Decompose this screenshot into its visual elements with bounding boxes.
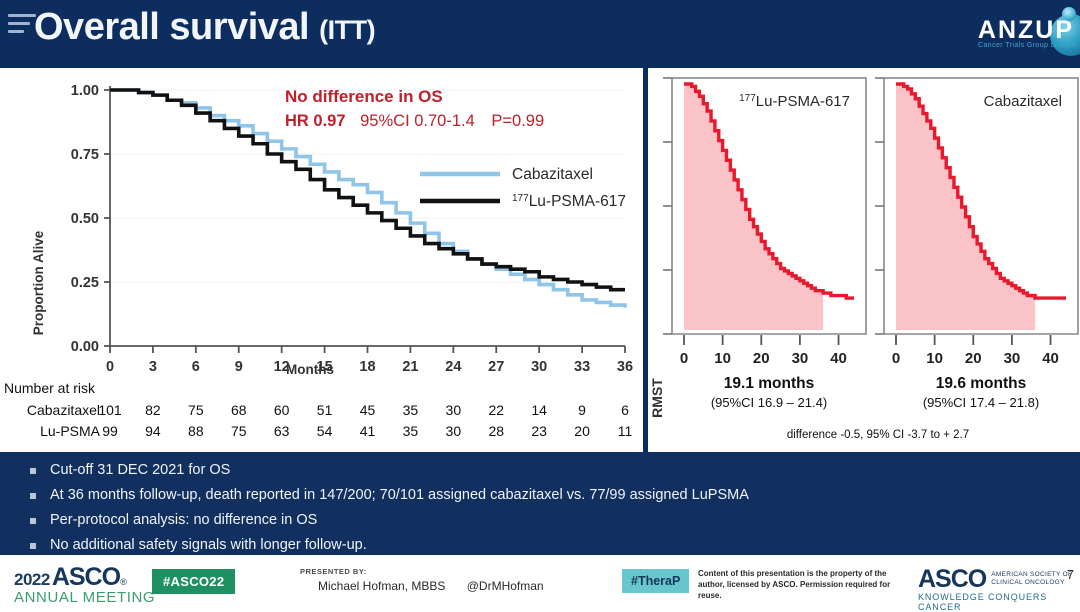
copyright-line-1: Content of this presentation is the prop… — [698, 568, 908, 579]
rmst-confidence-interval: (95%CI 16.9 – 21.4) — [711, 395, 827, 410]
hamburger-icon — [8, 14, 36, 40]
risk-cell: 22 — [488, 402, 504, 418]
rmst-value: 19.6 months — [936, 375, 1026, 392]
rmst-panels: 010203040177Lu-PSMA-61719.1 months(95%CI… — [648, 68, 1080, 452]
risk-cell: 30 — [446, 423, 462, 439]
risk-table-rows: Cabazitaxel1018275686051453530221496Lu-P… — [27, 402, 633, 439]
risk-cell: 6 — [621, 402, 629, 418]
risk-cell: 51 — [317, 402, 333, 418]
asco-annual-meeting-text: ANNUAL MEETING — [14, 589, 174, 606]
risk-cell: 101 — [98, 402, 122, 418]
km-x-tick: 24 — [445, 359, 461, 375]
km-y-axis-label: Proportion Alive — [31, 230, 46, 335]
km-y-tick: 1.00 — [71, 83, 99, 99]
risk-cell: 75 — [231, 423, 247, 439]
overall-survival-chart: 0.000.250.500.751.00 0369121518212427303… — [0, 68, 643, 452]
bullet-item: Cut-off 31 DEC 2021 for OS — [30, 460, 1070, 480]
risk-row-label: Cabazitaxel — [27, 402, 100, 418]
presented-by-label: PRESENTED BY: — [300, 567, 544, 576]
hashtag-asco22-badge[interactable]: #ASCO22 — [152, 569, 235, 594]
bullet-text: No additional safety signals with longer… — [50, 535, 367, 555]
risk-cell: 45 — [360, 402, 376, 418]
asco-society-line-1: AMERICAN SOCIETY OF — [991, 571, 1072, 578]
registered-mark-icon: ® — [120, 577, 127, 587]
bullet-square-icon — [30, 543, 36, 549]
rmst-x-tick: 30 — [792, 350, 809, 367]
risk-cell: 35 — [403, 402, 419, 418]
risk-cell: 54 — [317, 423, 333, 439]
asco-society-name: AMERICAN SOCIETY OF CLINICAL ONCOLOGY — [991, 571, 1072, 587]
rmst-axis-label: RMST — [649, 378, 665, 418]
km-x-tick: 21 — [402, 359, 418, 375]
presenter-name: Michael Hofman, MBBS — [318, 579, 445, 593]
rmst-panel-cabazitaxel: 010203040Cabazitaxel19.6 months(95%CI 17… — [875, 78, 1078, 410]
page-title-main: Overall survival — [34, 6, 309, 48]
km-x-tick: 0 — [106, 359, 114, 375]
asco-tagline: KNOWLEDGE CONQUERS CANCER — [918, 592, 1080, 612]
km-x-tick: 3 — [149, 359, 157, 375]
asco-society-line-2: CLINICAL ONCOLOGY — [991, 579, 1065, 586]
risk-cell: 23 — [531, 423, 547, 439]
risk-cell: 82 — [145, 402, 161, 418]
anzup-tagline: Cancer Trials Group Limited — [978, 42, 1076, 49]
rmst-fill-area — [684, 84, 823, 330]
rmst-x-tick: 40 — [1042, 350, 1059, 367]
risk-cell: 60 — [274, 402, 290, 418]
asco-year: 2022 — [14, 570, 50, 590]
legend-label-lupsma: 177Lu-PSMA-617 — [512, 193, 626, 210]
rmst-svg: 010203040177Lu-PSMA-61719.1 months(95%CI… — [648, 68, 1080, 452]
risk-cell: 99 — [102, 423, 118, 439]
anzup-logo: ANZUP Cancer Trials Group Limited — [934, 6, 1080, 62]
annotation-no-difference: No difference in OS — [285, 87, 443, 106]
risk-cell: 35 — [403, 423, 419, 439]
km-y-tick: 0.75 — [71, 147, 99, 163]
risk-cell: 30 — [446, 402, 462, 418]
rmst-x-tick: 0 — [680, 350, 688, 367]
page-title-sub: (ITT) — [319, 15, 375, 45]
bullet-square-icon — [30, 493, 36, 499]
km-x-tick: 6 — [192, 359, 200, 375]
rmst-x-tick: 10 — [926, 350, 943, 367]
rmst-panel-title: 177Lu-PSMA-617 — [739, 93, 850, 110]
km-x-tick: 30 — [531, 359, 547, 375]
bullet-list: Cut-off 31 DEC 2021 for OSAt 36 months f… — [30, 460, 1070, 560]
bullet-item: At 36 months follow-up, death reported i… — [30, 485, 1070, 505]
annotation-stats: HR 0.97 95%CI 0.70-1.4 P=0.99 — [285, 112, 544, 130]
risk-cell: 14 — [531, 402, 547, 418]
slide-footer: 2022 ASCO ® ANNUAL MEETING #ASCO22 PRESE… — [0, 555, 1080, 608]
bullet-text: Per-protocol analysis: no difference in … — [50, 510, 317, 530]
km-svg: 0.000.250.500.751.00 0369121518212427303… — [0, 68, 643, 452]
rmst-x-tick: 10 — [714, 350, 731, 367]
copyright-line-2: author, licensed by ASCO. Permission req… — [698, 579, 908, 601]
km-y-tick: 0.25 — [71, 275, 99, 291]
rmst-panel-title: Cabazitaxel — [984, 93, 1062, 110]
bullet-square-icon — [30, 468, 36, 474]
risk-table-title: Number at risk — [4, 380, 96, 396]
page-number: 7 — [1067, 567, 1074, 582]
km-x-tick: 18 — [359, 359, 375, 375]
risk-row-label: Lu-PSMA — [40, 423, 101, 439]
risk-cell: 41 — [360, 423, 376, 439]
risk-cell: 88 — [188, 423, 204, 439]
risk-cell: 20 — [574, 423, 590, 439]
km-x-axis-label: Months — [286, 362, 334, 377]
bullets-panel: Cut-off 31 DEC 2021 for OSAt 36 months f… — [0, 452, 1080, 555]
km-x-tick: 33 — [574, 359, 590, 375]
asco-society-logo: ASCO AMERICAN SOCIETY OF CLINICAL ONCOLO… — [918, 565, 1080, 612]
rmst-difference-label: difference -0.5, 95% CI -3.7 to + 2.7 — [787, 429, 969, 441]
risk-cell: 28 — [488, 423, 504, 439]
risk-cell: 94 — [145, 423, 161, 439]
copyright-notice: Content of this presentation is the prop… — [698, 568, 908, 601]
asco-wordmark: ASCO — [52, 563, 120, 592]
rmst-confidence-interval: (95%CI 17.4 – 21.8) — [923, 395, 1039, 410]
asco-annual-meeting-logo: 2022 ASCO ® ANNUAL MEETING — [14, 563, 174, 606]
risk-cell: 68 — [231, 402, 247, 418]
hashtag-therap-badge[interactable]: #TheraP — [622, 569, 689, 593]
presenter-handle[interactable]: @DrMHofman — [467, 579, 544, 593]
rmst-x-tick: 20 — [965, 350, 982, 367]
rmst-x-tick: 0 — [892, 350, 900, 367]
presenter-info: Michael Hofman, MBBS @DrMHofman — [300, 579, 544, 593]
bullet-item: Per-protocol analysis: no difference in … — [30, 510, 1070, 530]
rmst-x-tick: 40 — [830, 350, 847, 367]
presented-by-block: PRESENTED BY: Michael Hofman, MBBS @DrMH… — [300, 567, 544, 593]
rmst-value: 19.1 months — [724, 375, 814, 392]
km-y-tick: 0.00 — [71, 339, 99, 355]
risk-cell: 9 — [578, 402, 586, 418]
rmst-panel-lupsma: 010203040177Lu-PSMA-61719.1 months(95%CI… — [663, 78, 866, 410]
risk-cell: 63 — [274, 423, 290, 439]
km-y-tick: 0.50 — [71, 211, 99, 227]
asco-right-wordmark: ASCO — [918, 565, 986, 594]
km-x-tick: 9 — [235, 359, 243, 375]
km-y-tick-labels: 0.000.250.500.751.00 — [71, 83, 99, 355]
slide-header: Overall survival (ITT) ANZUP Cancer Tria… — [0, 0, 1080, 68]
page-title: Overall survival (ITT) — [34, 6, 375, 49]
km-x-tick-labels: 0369121518212427303336 — [106, 359, 633, 375]
bullet-item: No additional safety signals with longer… — [30, 535, 1070, 555]
km-x-tick: 27 — [488, 359, 504, 375]
rmst-x-tick: 20 — [753, 350, 770, 367]
anzup-wordmark: ANZUP — [978, 16, 1074, 45]
risk-cell: 75 — [188, 402, 204, 418]
legend-label-cabazitaxel: Cabazitaxel — [512, 166, 593, 183]
rmst-x-tick: 30 — [1004, 350, 1021, 367]
risk-cell: 11 — [618, 423, 633, 439]
bullet-square-icon — [30, 518, 36, 524]
bullet-text: At 36 months follow-up, death reported i… — [50, 485, 749, 505]
km-x-tick: 36 — [617, 359, 633, 375]
bullet-text: Cut-off 31 DEC 2021 for OS — [50, 460, 230, 480]
